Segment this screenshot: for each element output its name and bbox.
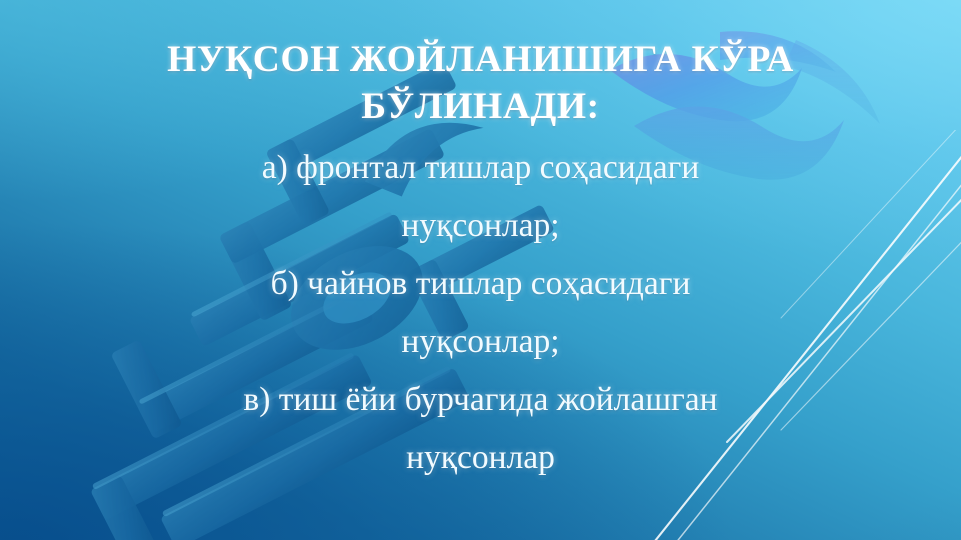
slide-title-line-2: БЎЛИНАДИ: [41, 83, 921, 130]
slide-body-line-4: нуқсонлар; [31, 313, 931, 371]
slide-body-line-1: а) фронтал тишлар соҳасидаги [31, 139, 931, 197]
slide-text-content: НУҚСОН ЖОЙЛАНИШИГА КЎРА БЎЛИНАДИ: а) фро… [0, 0, 961, 540]
slide-body-line-2: нуқсонлар; [31, 197, 931, 255]
slide-title-line-1: НУҚСОН ЖОЙЛАНИШИГА КЎРА [41, 36, 921, 83]
slide-body-line-6: нуқсонлар [31, 429, 931, 487]
slide-body-line-3: б) чайнов тишлар соҳасидаги [31, 255, 931, 313]
slide-body-line-5: в) тиш ёйи бурчагида жойлашган [31, 371, 931, 429]
presentation-slide: НУҚСОН ЖОЙЛАНИШИГА КЎРА БЎЛИНАДИ: а) фро… [0, 0, 961, 540]
